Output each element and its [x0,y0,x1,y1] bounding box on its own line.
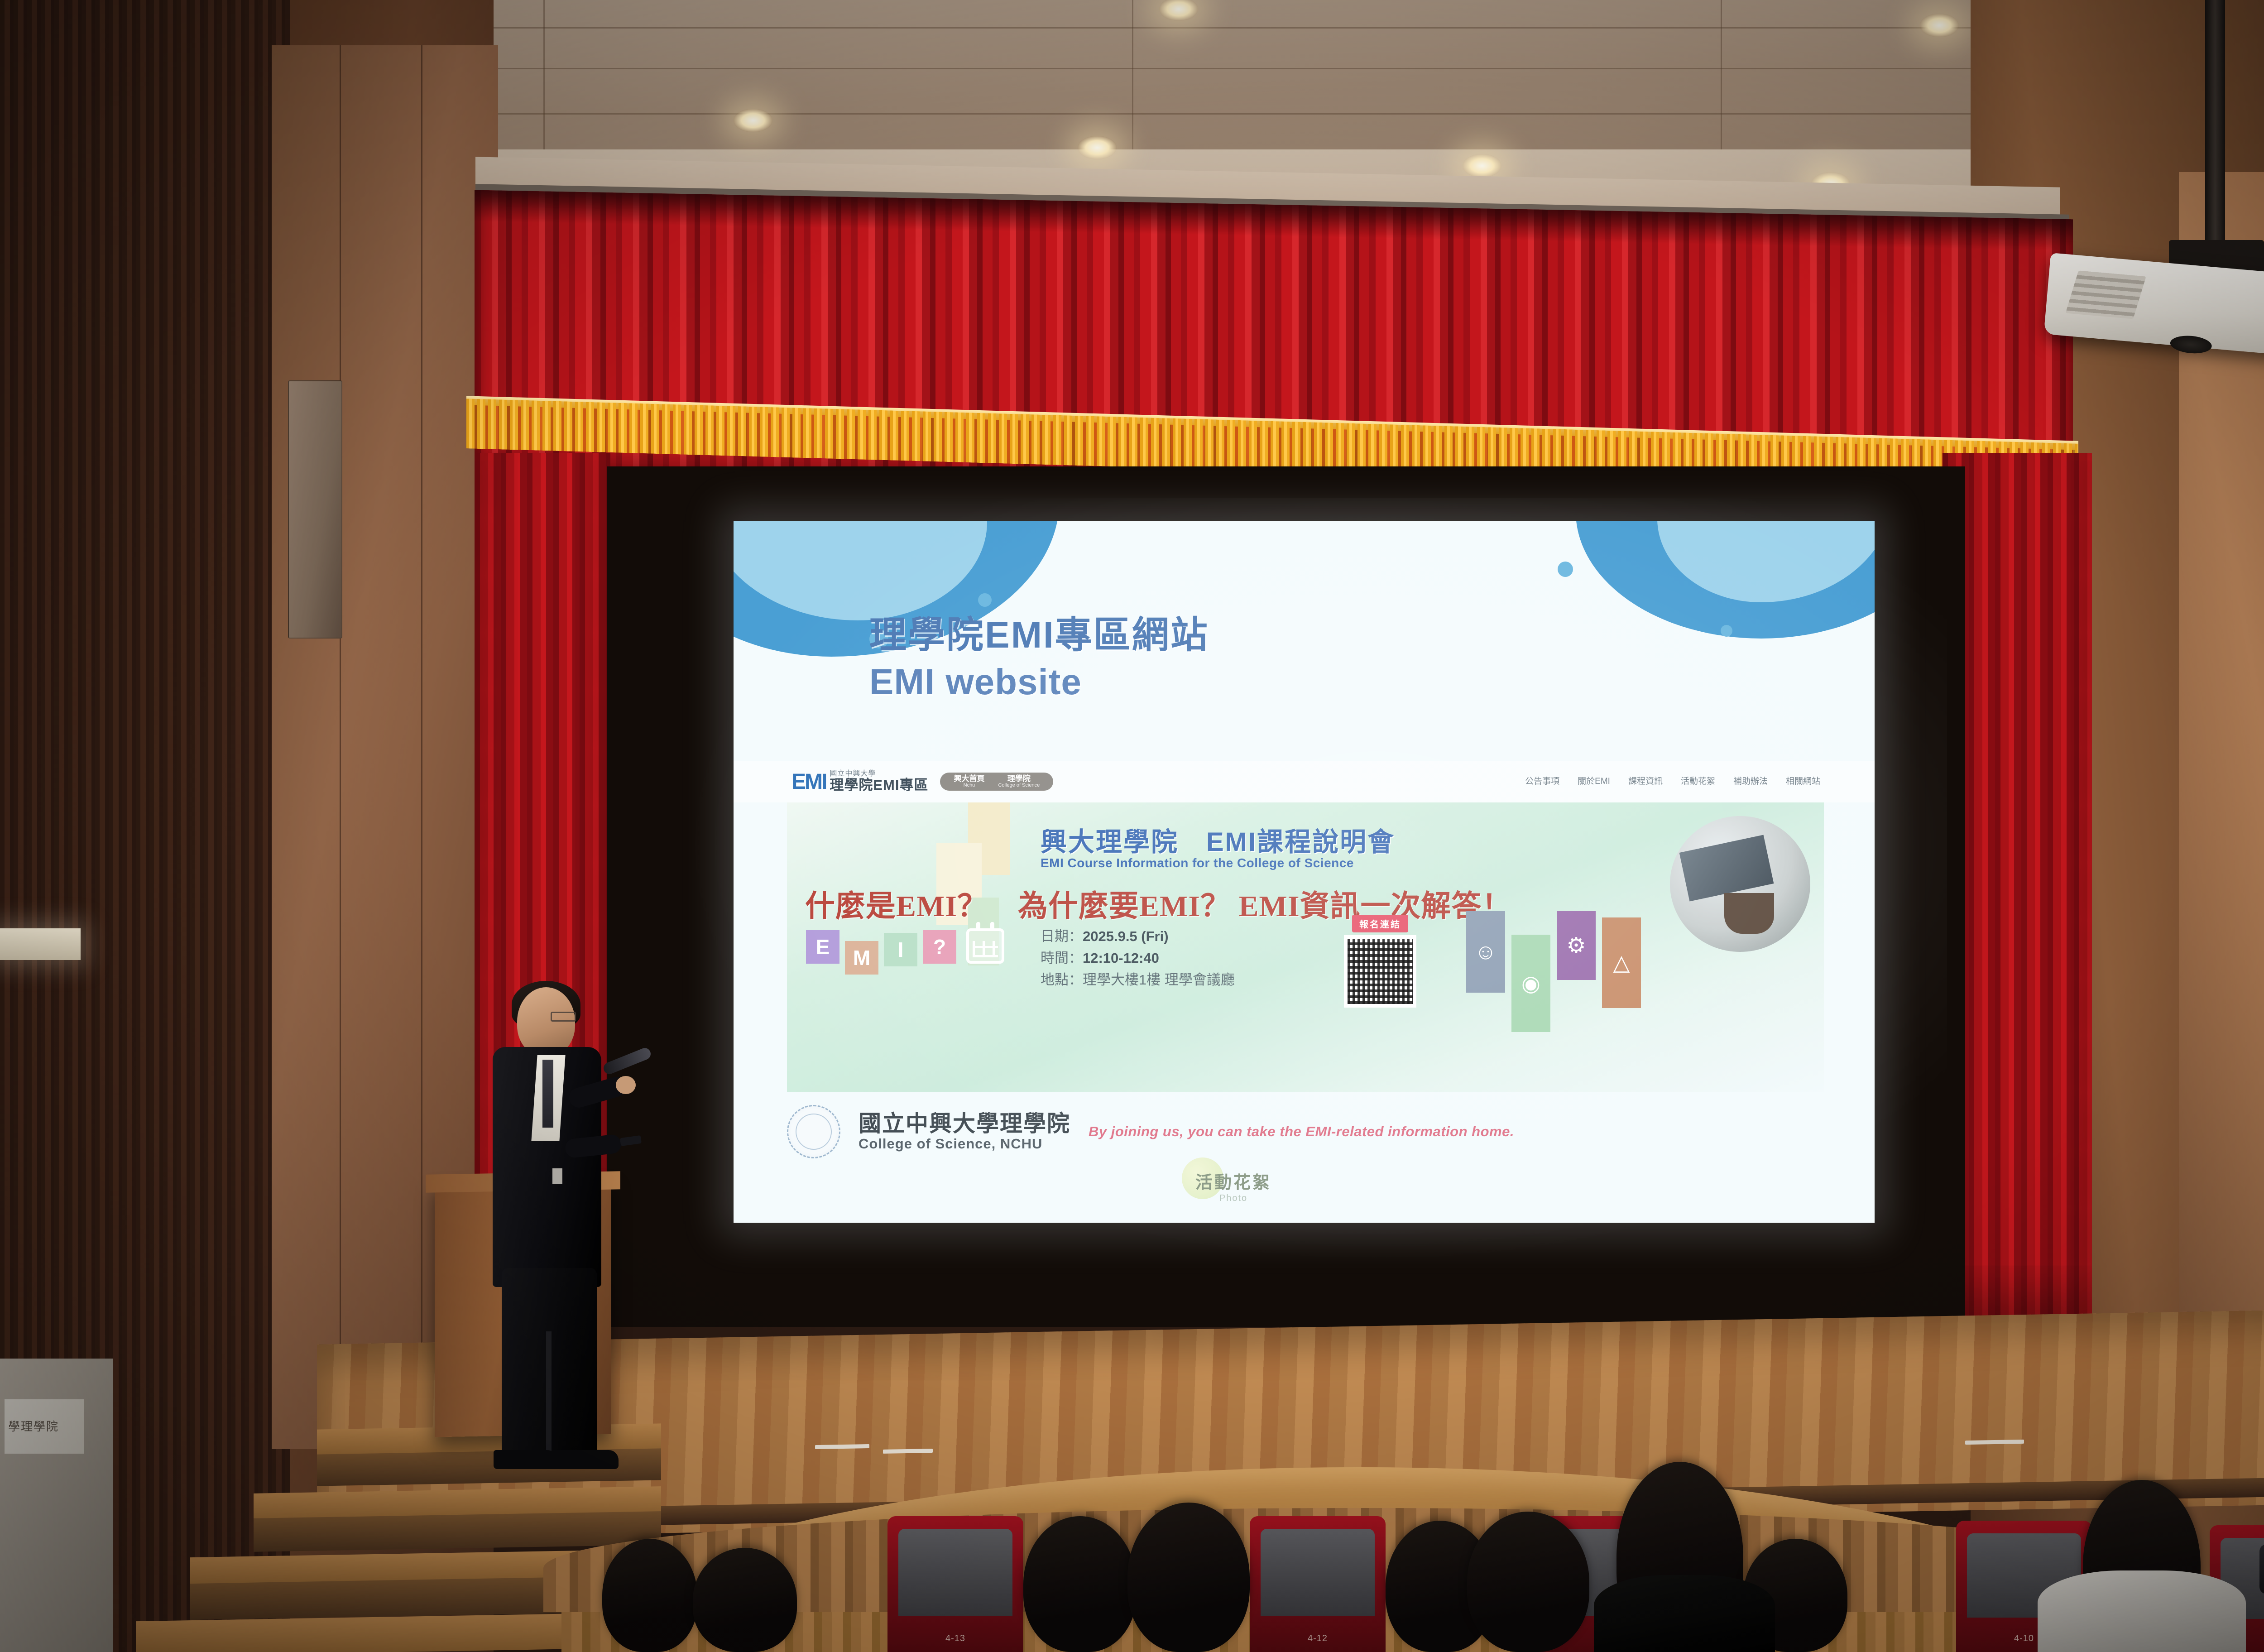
link-college-cn: 理學院 [998,775,1040,783]
audience-head [1467,1512,1589,1652]
link-nchu-home[interactable]: 興大首頁 Nchu [954,775,984,788]
wall-speaker [288,380,342,639]
event-place-row: 地點：理學大樓1樓 理學會議廳 [1041,969,1235,991]
camera-lens [2259,1544,2264,1594]
event-date-label: 日期： [1041,928,1083,944]
nav-item-announcements[interactable]: 公告事項 [1525,774,1559,787]
qr-label: 報名連結 [1352,915,1408,932]
science-icon-tiles: ☺ ◉ ⚙ △ [1466,911,1641,1008]
flask-icon: ☺ [1466,911,1505,993]
letter-tile-m: M [845,941,878,975]
decor-dot [1558,562,1573,577]
stage-marker-tape [883,1449,933,1454]
join-note: By joining us, you can take the EMI-rela… [1089,1124,1514,1140]
poster-title-cn: 興大理學院 EMI課程說明會 [1041,821,1395,859]
site-logo[interactable]: EMI 國立中興大學 理學院EMI專區 [791,769,928,794]
presenter-shoe-left [494,1450,557,1469]
decor-dot [1721,625,1732,637]
event-date-row: 日期：2025.9.5 (Fri) [1041,926,1235,947]
audience-shoulders [1594,1575,1775,1652]
organization-cn: 國立中興大學理學院 [859,1111,1070,1136]
presenter-glasses [551,1012,576,1022]
presenter-shoe-right [551,1450,619,1469]
nav-item-related-sites[interactable]: 相關網站 [1786,774,1820,787]
videographer [2246,1467,2264,1652]
event-details: 日期：2025.9.5 (Fri) 時間：12:10-12:40 地點：理學大樓… [1041,926,1235,991]
link-college-of-science[interactable]: 理學院 College of Science [998,775,1040,788]
emi-letter-tiles: E M I ? [806,928,1004,964]
photo-section-cn: 活動花絮 [1195,1168,1271,1193]
link-college-en: College of Science [998,783,1040,788]
letter-tile-question: ? [923,930,956,964]
globe-icon: ◉ [1511,935,1550,1032]
registration-qr-block[interactable]: 報名連結 [1344,915,1416,1008]
letter-tile-i: I [884,933,917,966]
nav-item-event-photos[interactable]: 活動花絮 [1681,774,1715,787]
event-place-label: 地點： [1041,972,1083,988]
poster-footer: 國立中興大學理學院 College of Science, NCHU By jo… [787,1105,1824,1158]
audience-head [1023,1516,1137,1652]
event-time-label: 時間： [1041,950,1083,966]
organization-en: College of Science, NCHU [859,1136,1070,1152]
right-wall-column [2179,172,2264,1485]
theater-seat: 4-12 [1250,1516,1386,1652]
nav-item-about-emi[interactable]: 關於EMI [1578,774,1610,787]
podium-side-sign: 學理學院 [5,1399,84,1454]
theater-seat: 4-13 [887,1516,1023,1652]
slide-title-group: 理學院EMI專區網站 EMI website [869,605,1209,703]
nav-item-course-info[interactable]: 課程資訊 [1628,774,1663,787]
wall-light-strip [0,928,81,960]
link-nchu-home-en: Nchu [954,783,984,788]
presenter-head [517,987,575,1056]
presenter-name-badge [552,1168,562,1184]
event-time-row: 時間：12:10-12:40 [1041,947,1235,969]
ceiling-light [1078,136,1117,159]
website-screenshot: EMI 國立中興大學 理學院EMI專區 興大首頁 Nchu 理學院 [734,761,1875,1223]
projector-vents [2066,271,2146,319]
projection-screen: 理學院EMI專區網站 EMI website EMI 國立中興大學 理學院EMI… [734,521,1875,1223]
site-navigation: 公告事項 關於EMI 課程資訊 活動花絮 補助辦法 相關網站 [1525,774,1820,787]
calendar-icon [966,928,1004,964]
poster-photo-circle [1670,816,1810,952]
link-nchu-home-cn: 興大首頁 [954,775,984,783]
ceiling-light [1920,14,1959,37]
organization-block: 國立中興大學理學院 College of Science, NCHU [859,1111,1070,1152]
presenter-tie [542,1060,553,1128]
poster-tagline: 什麼是EMI？ 為什麼要EMI？ EMI資訊一次解答！ [805,882,1792,925]
presentation-slide: 理學院EMI專區網站 EMI website EMI 國立中興大學 理學院EMI… [734,521,1875,1223]
ceiling-light [734,109,772,132]
seat-number: 4-12 [1250,1633,1386,1644]
seat-number: 4-13 [887,1633,1023,1644]
projector-mount-pole [2205,0,2225,254]
qr-code-image[interactable] [1344,935,1416,1008]
event-date-value: 2025.9.5 (Fri) [1083,928,1169,944]
audience-shoulders [2038,1570,2246,1652]
auditorium-scene: 理學院EMI專區網站 EMI website EMI 國立中興大學 理學院EMI… [0,0,2264,1652]
photo-section-heading: 活動花絮 Photo [1195,1168,1271,1204]
event-poster-banner[interactable]: 興大理學院 EMI課程說明會 EMI Course Information fo… [787,802,1824,1092]
ceiling-light [1463,154,1501,178]
podium-side-sign-text: 學理學院 [8,1417,59,1434]
presenter-hand [616,1076,636,1094]
slide-title-cn: 理學院EMI專區網站 [869,605,1209,658]
presenter [466,987,625,1485]
poster-title-en: EMI Course Information for the College o… [1041,856,1354,870]
logo-site-name: 理學院EMI專區 [830,778,928,793]
site-external-links: 興大首頁 Nchu 理學院 College of Science [940,773,1053,790]
photo-section-en: Photo [1195,1193,1271,1204]
compass-ruler-icon: △ [1602,917,1641,1008]
college-seal-logo [787,1105,840,1158]
nav-item-subsidy[interactable]: 補助辦法 [1733,774,1768,787]
event-time-value: 12:10-12:40 [1083,950,1159,966]
presenter-leg-split [546,1331,552,1458]
audience-head [602,1539,697,1652]
audience-head [693,1548,797,1652]
audience-head [1127,1503,1250,1652]
slide-title-en: EMI website [869,661,1209,703]
letter-tile-e: E [806,930,839,964]
event-place-value: 理學大樓1樓 理學會議廳 [1083,972,1235,988]
gear-icon: ⚙ [1557,911,1596,980]
emi-logo-mark: EMI [791,769,826,794]
